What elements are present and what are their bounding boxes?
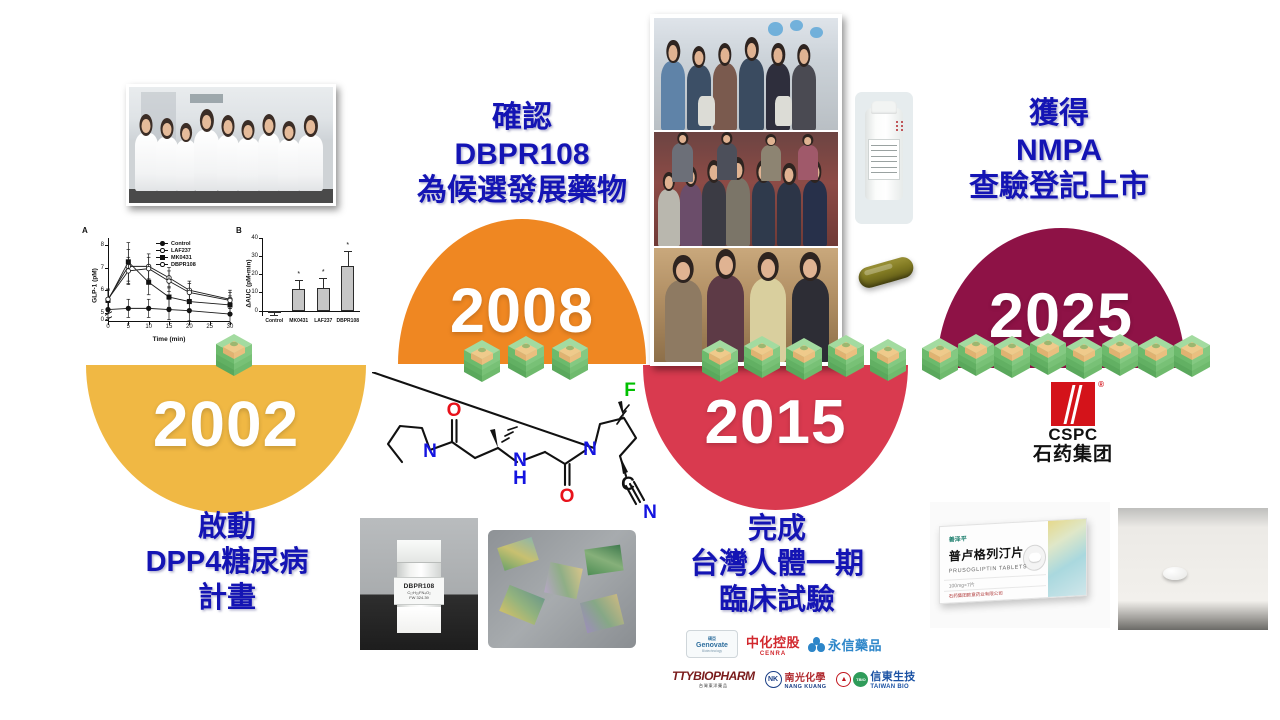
legend-marker-control [156,243,168,244]
partner-row-2: TTYBIOPHARM 台灣東洋藥品 NK 南光化學 NANG KUANG ▲ … [672,664,940,694]
caption-2002-line3: 計畫 [98,581,356,616]
partner-tty-biopharm: TTYBIOPHARM 台灣東洋藥品 [672,669,755,689]
y-tick-label-b: 40 [251,235,258,241]
box-brand-cn: 善泽平 [949,533,967,543]
x-tick-label-b: Control [265,318,283,324]
box-divider [944,575,1046,582]
data-point-control [126,306,130,310]
cenra-line2: CENRA [760,651,786,657]
data-point-control [167,307,171,311]
caption-2008-line3: 為候選發展藥物 [388,173,656,210]
balloon-decor [768,22,783,35]
money-stack-icon [550,336,590,382]
money-stack-group-2002 [196,328,286,380]
x-tick-label-a: 20 [186,324,193,330]
vial-label-fw: FW 324.39 [409,595,429,600]
white-tablet [1163,567,1187,580]
partner-yungshin: 永信藥品 [808,635,882,654]
error-bar [299,280,300,289]
partner-logos: 碩亞 Genovate Biotechnology 中化控股 CENRA 永信藥… [672,628,940,694]
money-stack-icon [1172,333,1212,379]
vial-cap [397,540,442,562]
legend-item: Control [156,240,196,247]
team-collage-top [654,18,838,130]
money-stack-group-2015 [700,330,955,384]
error-cap [319,278,327,279]
year-label-2015: 2015 [643,387,908,458]
x-tick-label-a: 10 [145,324,152,330]
taiwan-bio-text: 信東生技 TAIWAN BIO [870,668,915,690]
nang-kuang-mark: NK [765,671,782,688]
y-tick-b [259,256,262,257]
lab-person [135,133,157,191]
y-tick-label-a: 0 [101,317,104,323]
money-stack-icon [868,337,908,383]
vial-label-title: DBPR108 [404,583,435,590]
taiwan-bio-line1: 信東生技 [870,668,915,684]
crystal-flake [544,562,582,599]
lab-person [298,135,322,192]
collage-person [702,180,726,246]
cenra-line1: 中化控股 [746,632,800,651]
money-stack-icon [826,333,866,379]
collage-person [680,184,702,246]
atom-label-F: F [624,380,636,401]
bar-laf237 [317,288,330,311]
partner-row-1: 碩亞 Genovate Biotechnology 中化控股 CENRA 永信藥… [672,628,940,660]
vial-body: DBPR108 C₁₇H₂₅FN₄O₂ FW 324.39 [397,540,442,632]
money-stack-icon [1028,331,1068,377]
goat-statue [698,96,715,125]
bar-dbpr108 [341,266,354,310]
crystal-flake [580,594,625,633]
caption-2015-line1: 完成 [648,512,906,547]
nang-kuang-line1: 南光化學 [785,669,827,684]
crystal-flake [499,585,545,626]
legend-marker-laf237 [156,250,168,251]
cspc-logo: ® CSPC 石药集团 [1018,382,1128,465]
y-tick-label-a: 5 [101,310,104,316]
money-stack-icon [956,332,996,378]
legend-marker-dbpr108 [156,264,168,265]
panel-a-label: A [82,226,88,235]
yungshin-dots-icon [808,637,825,652]
caption-2025: 獲得 NMPA 查驗登記上市 [925,96,1193,206]
panel-b-axes: 010203040Control*MK0431*LAF237*DBPR108 [262,238,360,316]
taiwan-bio-seal-icon: ▲ [836,672,851,687]
collage-person [726,178,750,246]
significance-marker: * [346,242,349,249]
partner-nang-kuang: NK 南光化學 NANG KUANG [765,669,827,690]
money-stack-icon [1100,332,1140,378]
tty-line2: 台灣東洋藥品 [699,683,728,689]
prusogliptin-box-photo: 善泽平 普卢格列汀片 PRUSOGLIPTIN TABLETS 100mg×7片… [930,502,1110,628]
data-point-dbpr108 [187,290,191,294]
lab-person [217,135,239,192]
data-point-dbpr108 [167,279,171,283]
collage-person [661,61,685,130]
data-point-dbpr108 [106,297,110,301]
atom-label-N: N [583,439,597,460]
data-point-control [146,306,150,310]
caption-2025-line2: NMPA [925,133,1193,170]
year-label-2002: 2002 [86,387,366,461]
panel-a-legend: Control LAF237 MK0431 DBPR108 [156,240,196,268]
lab-person [237,138,259,191]
bottle-red-dots [896,121,900,136]
balloon-decor [810,27,823,38]
atom-label-N: N [423,441,437,462]
caption-2008-line1: 確認 [388,100,656,137]
money-stack-icon [1064,335,1104,381]
data-point-dbpr108 [126,269,130,273]
atom-label-C: C [621,474,635,495]
crystal-flake [497,537,538,570]
vial-powder [397,607,442,633]
x-tick-label-a: 5 [127,324,130,330]
lab-team-photo [126,84,336,206]
caption-2002-line2: DPP4糖尿病 [98,545,356,580]
chemical-structure-dbpr108: O N N H O N F C N [372,372,672,522]
money-stack-group-2008 [462,330,632,382]
nang-kuang-line2: NANG KUANG [785,684,827,690]
collage-person [658,189,680,246]
x-tick-label-a: 0 [106,324,109,330]
white-tablet-photo [1118,508,1268,630]
y-tick-label-b: 30 [251,253,258,259]
money-stack-icon [1136,334,1176,380]
vial-label: DBPR108 C₁₇H₂₅FN₄O₂ FW 324.39 [394,577,444,605]
y-tick-label-a: 6 [101,287,104,293]
error-cap [344,251,352,252]
y-tick-label-a: 8 [101,242,104,248]
atom-label-O: O [560,486,575,507]
data-point-mk0431 [147,280,151,284]
tty-name: TTYBIOPHARM [672,669,755,683]
lab-person [176,140,196,191]
atom-label-O: O [447,400,462,421]
caption-2002-line1: 啟動 [98,510,356,545]
balloon-decor [790,20,803,31]
tty-line1b: BIOPHARM [693,669,754,683]
y-axis-b [262,238,263,316]
collage-person [665,280,702,362]
yungshin-name: 永信藥品 [828,635,882,654]
panel-b-ylabel: ΔAUC (pM•min) [246,255,253,313]
cspc-name-en: CSPC [1018,426,1128,445]
legend-label: DBPR108 [171,262,196,268]
y-tick-label-b: 0 [255,308,258,314]
collage-person [803,180,827,246]
atom-label-N: N [643,502,657,522]
legend-item: LAF237 [156,247,196,254]
partner-genovate: 碩亞 Genovate Biotechnology [686,630,738,658]
cspc-name-cn: 石药集团 [1018,445,1128,465]
significance-marker: * [322,269,325,276]
y-tick-label-a: 7 [101,265,104,271]
money-stack-icon [462,338,502,384]
y-tick-b [259,274,262,275]
lab-person [194,130,218,191]
genovate-line3: Biotechnology [702,649,722,653]
atom-label-H: H [513,468,527,489]
money-stack-icon [742,334,782,380]
caption-2015: 完成 台灣人體一期 臨床試驗 [648,512,906,618]
taiwan-bio-green-seal-icon: TBIO [853,672,868,687]
x-tick-label-b: MK0431 [289,318,308,324]
taiwan-bio-line2: TAIWAN BIO [870,684,915,690]
caption-2025-line1: 獲得 [925,96,1193,133]
caption-2015-line2: 台灣人體一期 [648,547,906,582]
significance-marker: * [297,271,300,278]
collage-person [777,182,801,246]
partner-cenra: 中化控股 CENRA [746,632,800,657]
collage-person [717,143,737,179]
drug-box: 善泽平 普卢格列汀片 PRUSOGLIPTIN TABLETS 100mg×7片… [939,518,1087,604]
milestone-arc-2015: 2015 [643,365,908,510]
legend-item: MK0431 [156,254,196,261]
partner-taiwan-bio: ▲ TBIO 信東生技 TAIWAN BIO [836,668,915,690]
milestone-arc-2002: 2002 [86,365,366,513]
lab-person [258,133,280,191]
chart-panel-a: A GLP-1 (pM) Time (min) 0567805101520253… [82,226,234,342]
box-product-cn: 普卢格列汀片 [949,543,1024,564]
x-tick-label-b: DBPR108 [336,318,359,324]
team-collage [650,14,842,366]
dbpr108-vial-photo: DBPR108 C₁₇H₂₅FN₄O₂ FW 324.39 [360,518,478,650]
y-tick-label-b: 10 [251,289,258,295]
tty-line1: TTY [672,669,693,683]
collage-person [792,64,816,130]
box-teal-panel [1048,519,1086,597]
timeline-infographic: 2002 2008 2015 2025 確認 DBPR108 為候選發展藥物 獲… [0,0,1280,720]
legend-item: DBPR108 [156,261,196,268]
bottle-cap [871,101,898,114]
y-tick-b [259,311,262,312]
lab-person [156,137,178,192]
money-stack-icon [214,332,254,378]
panel-a-ylabel: GLP-1 (pM) [92,257,99,315]
genovate-line2: Genovate [696,642,728,649]
money-stack-icon [992,334,1032,380]
collage-person [672,143,692,182]
collage-person [798,145,818,180]
lab-bench [129,189,333,203]
data-point-mk0431 [167,295,171,299]
x-tick-label-a: 15 [166,324,173,330]
caption-2002: 啟動 DPP4糖尿病 計畫 [98,510,356,616]
error-bar [323,278,324,288]
legend-marker-mk0431 [156,257,168,258]
error-cap [295,280,303,281]
research-figure: A GLP-1 (pM) Time (min) 0567805101520253… [78,224,366,344]
legend-label: Control [171,241,191,247]
bottle-label [868,139,899,180]
panel-b-label: B [236,226,242,235]
money-stack-icon [920,336,960,382]
money-stack-icon [700,338,740,384]
crystal-microscopy-photo [488,530,636,648]
chart-panel-b: B ΔAUC (pM•min) 010203040Control*MK0431*… [236,226,364,342]
y-tick-b [259,292,262,293]
x-tick-label-b: LAF237 [314,318,332,324]
caption-2008: 確認 DBPR108 為候選發展藥物 [388,100,656,210]
money-stack-icon [506,334,546,380]
crystal-flake [584,544,623,575]
legend-label: MK0431 [171,255,192,261]
box-manufacturer: 石药集团欧意药业有限公司 [949,591,1003,600]
bottle-body [865,108,902,200]
lab-sign [190,94,223,103]
bulk-api-bottle [855,92,913,224]
data-point-dbpr108 [146,266,150,270]
nang-kuang-text: 南光化學 NANG KUANG [785,669,827,690]
collage-person [752,180,776,246]
collage-person [761,145,781,181]
money-stack-icon [784,336,824,382]
error-cap [270,315,278,316]
bar-mk0431 [292,289,305,311]
caption-2015-line3: 臨床試驗 [648,583,906,618]
data-point-dbpr108 [228,298,232,302]
cspc-mark: ® [1051,382,1095,426]
box-product-en: PRUSOGLIPTIN TABLETS [949,564,1027,574]
lab-person [278,139,300,191]
team-collage-middle [654,132,838,246]
caption-2008-line2: DBPR108 [388,137,656,174]
olive-capsule [856,255,916,291]
money-stack-group-2025 [920,328,1220,384]
collage-person [739,58,765,130]
caption-2025-line3: 查驗登記上市 [925,169,1193,206]
collage-person [713,63,737,130]
legend-label: LAF237 [171,248,191,254]
y-tick-label-b: 20 [251,271,258,277]
goat-statue [775,96,792,125]
error-bar [348,251,349,266]
y-tick-b [259,238,262,239]
